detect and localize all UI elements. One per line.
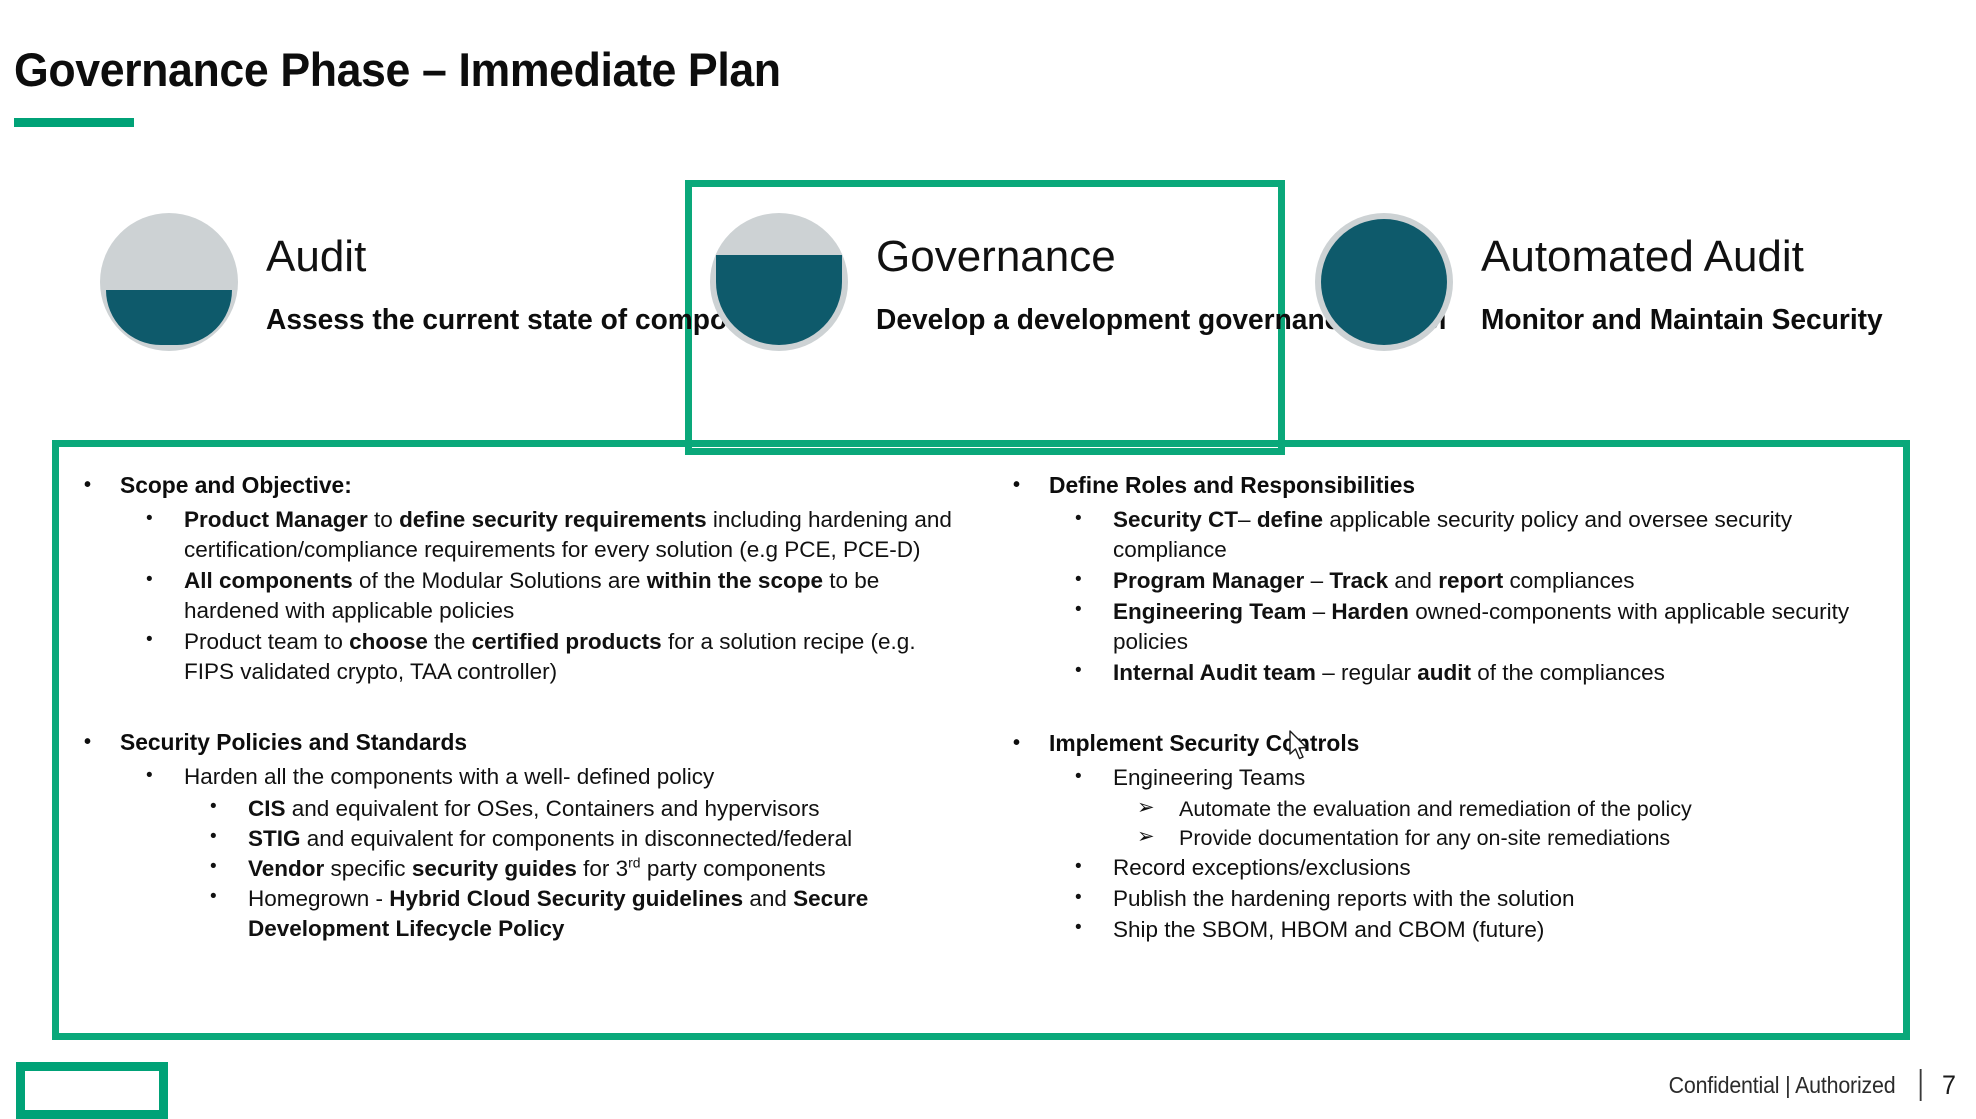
- round-bullet-icon: •: [1075, 854, 1082, 879]
- list-spacer: [62, 689, 961, 727]
- round-bullet-icon: •: [1013, 473, 1020, 497]
- right-section-1-heading: Define Roles and Responsibilities: [1049, 472, 1415, 498]
- page-number: 7: [1942, 1070, 1956, 1101]
- list-item: • CIS and equivalent for OSes, Container…: [184, 794, 961, 824]
- phase-automated-audit-description: Monitor and Maintain Security: [1481, 303, 1883, 338]
- list-spacer: [991, 690, 1890, 728]
- page-title: Governance Phase – Immediate Plan: [14, 42, 781, 97]
- round-bullet-icon: •: [84, 473, 91, 497]
- round-bullet-icon: •: [210, 854, 217, 879]
- list-item: • Implement Security Controls • Engineer…: [991, 730, 1890, 945]
- right-detail-column: • Define Roles and Responsibilities • Se…: [981, 460, 1910, 1030]
- brand-logo: [16, 1062, 168, 1119]
- list-item: • Engineering Team – Harden owned-compon…: [1049, 597, 1890, 657]
- phase-automated-audit[interactable]: Automated Audit Monitor and Maintain Sec…: [1315, 205, 1895, 351]
- list-item: • Product team to choose the certified p…: [120, 627, 961, 687]
- round-bullet-icon: •: [1075, 597, 1082, 622]
- list-item: • Harden all the components with a well-…: [120, 762, 961, 944]
- right-s2-bullet-1: Engineering Teams: [1113, 765, 1305, 790]
- round-bullet-icon: •: [1075, 567, 1082, 592]
- audit-progress-circle-icon: [100, 213, 238, 351]
- list-item: • Security Policies and Standards • Hard…: [62, 729, 961, 944]
- list-item: • Define Roles and Responsibilities • Se…: [991, 472, 1890, 688]
- round-bullet-icon: •: [210, 884, 217, 909]
- right-s2-bullet-4: Ship the SBOM, HBOM and CBOM (future): [1113, 917, 1544, 942]
- right-s1-bullet-1: Security CT– define applicable security …: [1113, 507, 1792, 562]
- list-item: ➢ Provide documentation for any on-site …: [1113, 824, 1890, 853]
- left-s1-bullet-2: All components of the Modular Solutions …: [184, 568, 879, 623]
- arrow-bullet-icon: ➢: [1137, 823, 1155, 851]
- right-s2-bullet-2: Record exceptions/exclusions: [1113, 855, 1411, 880]
- left-s2-bullet-1: Harden all the components with a well- d…: [184, 764, 714, 789]
- round-bullet-icon: •: [1075, 885, 1082, 910]
- list-item: • Ship the SBOM, HBOM and CBOM (future): [1049, 915, 1890, 945]
- right-s1-bullet-3: Engineering Team – Harden owned-componen…: [1113, 599, 1849, 654]
- arrow-bullet-icon: ➢: [1137, 794, 1155, 822]
- round-bullet-icon: •: [210, 794, 217, 819]
- left-s2-sub-1: CIS and equivalent for OSes, Containers …: [248, 796, 820, 821]
- list-item: • All components of the Modular Solution…: [120, 566, 961, 626]
- right-s1-bullet-4: Internal Audit team – regular audit of t…: [1113, 660, 1665, 685]
- list-item: • STIG and equivalent for components in …: [184, 824, 961, 854]
- left-section-1-heading: Scope and Objective:: [120, 472, 352, 498]
- detail-columns: • Scope and Objective: • Product Manager…: [52, 460, 1910, 1030]
- left-s2-sub-4: Homegrown - Hybrid Cloud Security guidel…: [248, 886, 868, 941]
- list-item: ➢ Automate the evaluation and remediatio…: [1113, 795, 1890, 824]
- left-s2-sub-3: Vendor specific security guides for 3rd …: [248, 856, 826, 881]
- left-s2-sub-2: STIG and equivalent for components in di…: [248, 826, 852, 851]
- round-bullet-icon: •: [146, 506, 153, 531]
- confidentiality-label: Confidential | Authorized: [1669, 1072, 1896, 1099]
- right-s2-bullet-3: Publish the hardening reports with the s…: [1113, 886, 1575, 911]
- round-bullet-icon: •: [210, 824, 217, 849]
- list-item: • Scope and Objective: • Product Manager…: [62, 472, 961, 687]
- round-bullet-icon: •: [146, 567, 153, 592]
- right-s2-sub-2: Provide documentation for any on-site re…: [1179, 826, 1670, 850]
- footer: Confidential | Authorized 7: [1669, 1069, 1956, 1101]
- left-s1-bullet-3: Product team to choose the certified pro…: [184, 629, 916, 684]
- right-s1-bullet-2: Program Manager – Track and report compl…: [1113, 568, 1635, 593]
- round-bullet-icon: •: [1075, 764, 1082, 789]
- round-bullet-icon: •: [1013, 731, 1020, 755]
- list-item: • Record exceptions/exclusions: [1049, 853, 1890, 883]
- list-item: • Homegrown - Hybrid Cloud Security guid…: [184, 884, 961, 944]
- footer-divider: [1920, 1069, 1922, 1101]
- round-bullet-icon: •: [1075, 506, 1082, 531]
- governance-progress-circle-icon: [710, 213, 848, 351]
- round-bullet-icon: •: [1075, 915, 1082, 940]
- automated-audit-progress-circle-icon: [1315, 213, 1453, 351]
- round-bullet-icon: •: [84, 730, 91, 754]
- title-accent-underline: [14, 118, 134, 127]
- list-item: • Vendor specific security guides for 3r…: [184, 854, 961, 884]
- left-detail-column: • Scope and Objective: • Product Manager…: [52, 460, 981, 1030]
- list-item: • Engineering Teams ➢ Automate the evalu…: [1049, 763, 1890, 852]
- left-section-2-heading: Security Policies and Standards: [120, 729, 467, 755]
- list-item: • Product Manager to define security req…: [120, 505, 961, 565]
- phase-automated-audit-name: Automated Audit: [1481, 235, 1895, 279]
- right-section-2-heading: Implement Security Controls: [1049, 730, 1359, 756]
- left-s1-bullet-1: Product Manager to define security requi…: [184, 507, 952, 562]
- round-bullet-icon: •: [146, 627, 153, 652]
- list-item: • Publish the hardening reports with the…: [1049, 884, 1890, 914]
- round-bullet-icon: •: [1075, 658, 1082, 683]
- list-item: • Program Manager – Track and report com…: [1049, 566, 1890, 596]
- round-bullet-icon: •: [146, 763, 153, 788]
- right-s2-sub-1: Automate the evaluation and remediation …: [1179, 797, 1692, 821]
- list-item: • Security CT– define applicable securit…: [1049, 505, 1890, 565]
- list-item: • Internal Audit team – regular audit of…: [1049, 658, 1890, 688]
